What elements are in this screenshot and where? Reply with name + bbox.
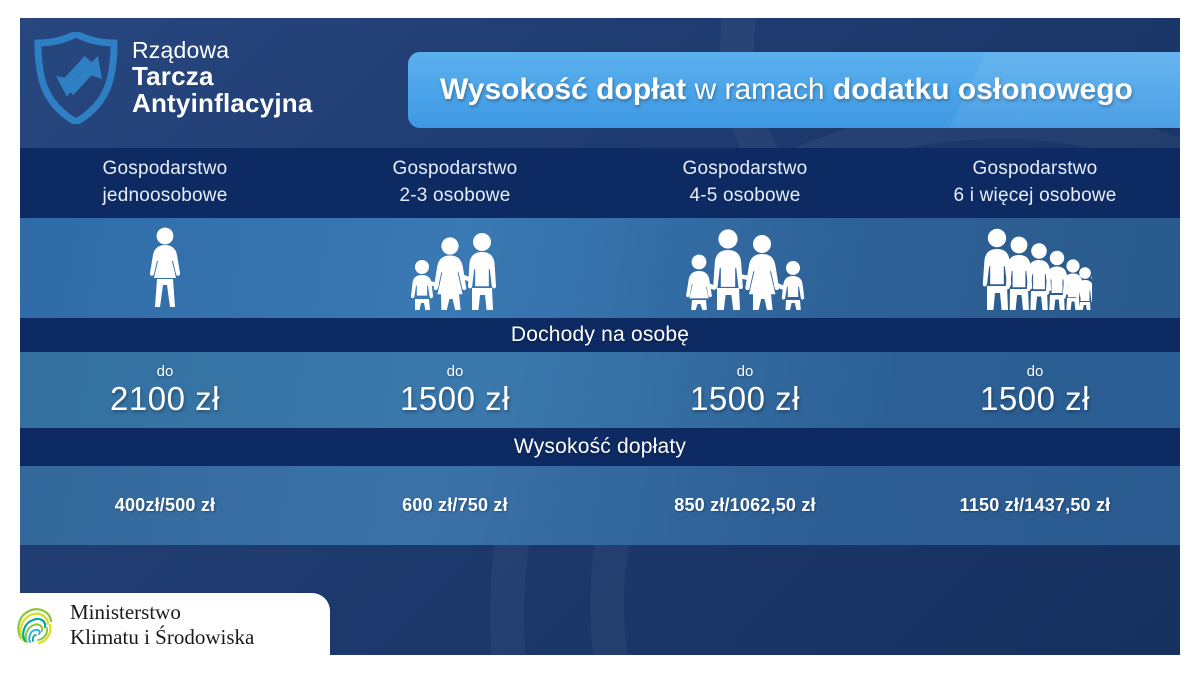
income-prefix: do bbox=[737, 364, 754, 379]
title-part-3: dodatku osłonowego bbox=[833, 73, 1133, 106]
ministry-line-2: Klimatu i Środowiska bbox=[70, 625, 254, 650]
column-header-2: Gospodarstwo 4-5 osobowe bbox=[600, 148, 890, 218]
ministry-line-1: Ministerstwo bbox=[70, 600, 254, 625]
page-title: Wysokość dopłat w ramach dodatku osłonow… bbox=[440, 73, 1133, 107]
household-icon-cell-1 bbox=[310, 218, 600, 318]
income-band: Dochody na osobę bbox=[20, 318, 1180, 352]
header-line-2: jednoosobowe bbox=[103, 183, 228, 210]
ministry-logo-plate: Ministerstwo Klimatu i Środowiska bbox=[0, 593, 330, 657]
brand-text: Rządowa Tarcza Antyinflacyjna bbox=[132, 38, 313, 117]
income-prefix: do bbox=[1027, 364, 1044, 379]
subsidy-value: 400zł/500 zł bbox=[115, 495, 215, 516]
family-six-icon bbox=[978, 226, 1092, 310]
subsidy-cell-2: 850 zł/1062,50 zł bbox=[600, 466, 890, 545]
income-prefix: do bbox=[447, 364, 464, 379]
header-line-1: Gospodarstwo bbox=[393, 156, 518, 183]
brand-line-3: Antyinflacyjna bbox=[132, 90, 313, 118]
subsidy-band-label: Wysokość dopłaty bbox=[20, 428, 1180, 466]
subsidy-value: 600 zł/750 zł bbox=[402, 495, 508, 516]
person-single-icon bbox=[136, 226, 194, 310]
subsidy-cell-0: 400zł/500 zł bbox=[20, 466, 310, 545]
brand-line-1: Rządowa bbox=[132, 38, 313, 62]
income-cell-0: do 2100 zł bbox=[20, 352, 310, 428]
income-band-label: Dochody na osobę bbox=[20, 318, 1180, 352]
header-line-2: 6 i więcej osobowe bbox=[953, 183, 1116, 210]
brand-logo-block: Rządowa Tarcza Antyinflacyjna bbox=[34, 32, 313, 124]
title-part-2: w ramach bbox=[686, 73, 833, 106]
header-line-2: 2-3 osobowe bbox=[400, 183, 511, 210]
column-header-1: Gospodarstwo 2-3 osobowe bbox=[310, 148, 600, 218]
household-icon-cell-2 bbox=[600, 218, 890, 318]
title-banner: Wysokość dopłat w ramach dodatku osłonow… bbox=[408, 52, 1180, 128]
column-headers-row: Gospodarstwo jednoosobowe Gospodarstwo 2… bbox=[20, 148, 1180, 218]
family-four-icon bbox=[683, 226, 807, 310]
brand-line-2: Tarcza bbox=[132, 63, 313, 91]
subsidy-values-row: 400zł/500 zł 600 zł/750 zł 850 zł/1062,5… bbox=[20, 466, 1180, 545]
income-value: 1500 zł bbox=[980, 382, 1090, 417]
header: Rządowa Tarcza Antyinflacyjna Wysokość d… bbox=[20, 18, 1180, 148]
subsidy-band: Wysokość dopłaty bbox=[20, 428, 1180, 466]
subsidy-value: 850 zł/1062,50 zł bbox=[674, 495, 816, 516]
income-prefix: do bbox=[157, 364, 174, 379]
income-cell-3: do 1500 zł bbox=[890, 352, 1180, 428]
income-value: 1500 zł bbox=[400, 382, 510, 417]
income-values-row: do 2100 zł do 1500 zł do 1500 zł do 1500… bbox=[20, 352, 1180, 428]
ministry-text: Ministerstwo Klimatu i Środowiska bbox=[70, 600, 254, 650]
household-icon-cell-3 bbox=[890, 218, 1180, 318]
title-part-1: Wysokość dopłat bbox=[440, 73, 686, 106]
income-cell-2: do 1500 zł bbox=[600, 352, 890, 428]
header-line-2: 4-5 osobowe bbox=[690, 183, 801, 210]
subsidy-value: 1150 zł/1437,50 zł bbox=[960, 495, 1111, 516]
family-three-icon bbox=[403, 226, 507, 310]
main-panel: Rządowa Tarcza Antyinflacyjna Wysokość d… bbox=[20, 18, 1180, 655]
infographic-root: Rządowa Tarcza Antyinflacyjna Wysokość d… bbox=[0, 0, 1200, 675]
household-icon-cell-0 bbox=[20, 218, 310, 318]
income-cell-1: do 1500 zł bbox=[310, 352, 600, 428]
header-line-1: Gospodarstwo bbox=[683, 156, 808, 183]
header-line-1: Gospodarstwo bbox=[973, 156, 1098, 183]
income-value: 2100 zł bbox=[110, 382, 220, 417]
household-icons-row bbox=[20, 218, 1180, 318]
income-value: 1500 zł bbox=[690, 382, 800, 417]
subsidy-cell-1: 600 zł/750 zł bbox=[310, 466, 600, 545]
header-line-1: Gospodarstwo bbox=[103, 156, 228, 183]
column-header-3: Gospodarstwo 6 i więcej osobowe bbox=[890, 148, 1180, 218]
subsidy-cell-3: 1150 zł/1437,50 zł bbox=[890, 466, 1180, 545]
swirl-logo-icon bbox=[14, 602, 58, 648]
shield-arrows-icon bbox=[34, 32, 118, 124]
column-header-0: Gospodarstwo jednoosobowe bbox=[20, 148, 310, 218]
